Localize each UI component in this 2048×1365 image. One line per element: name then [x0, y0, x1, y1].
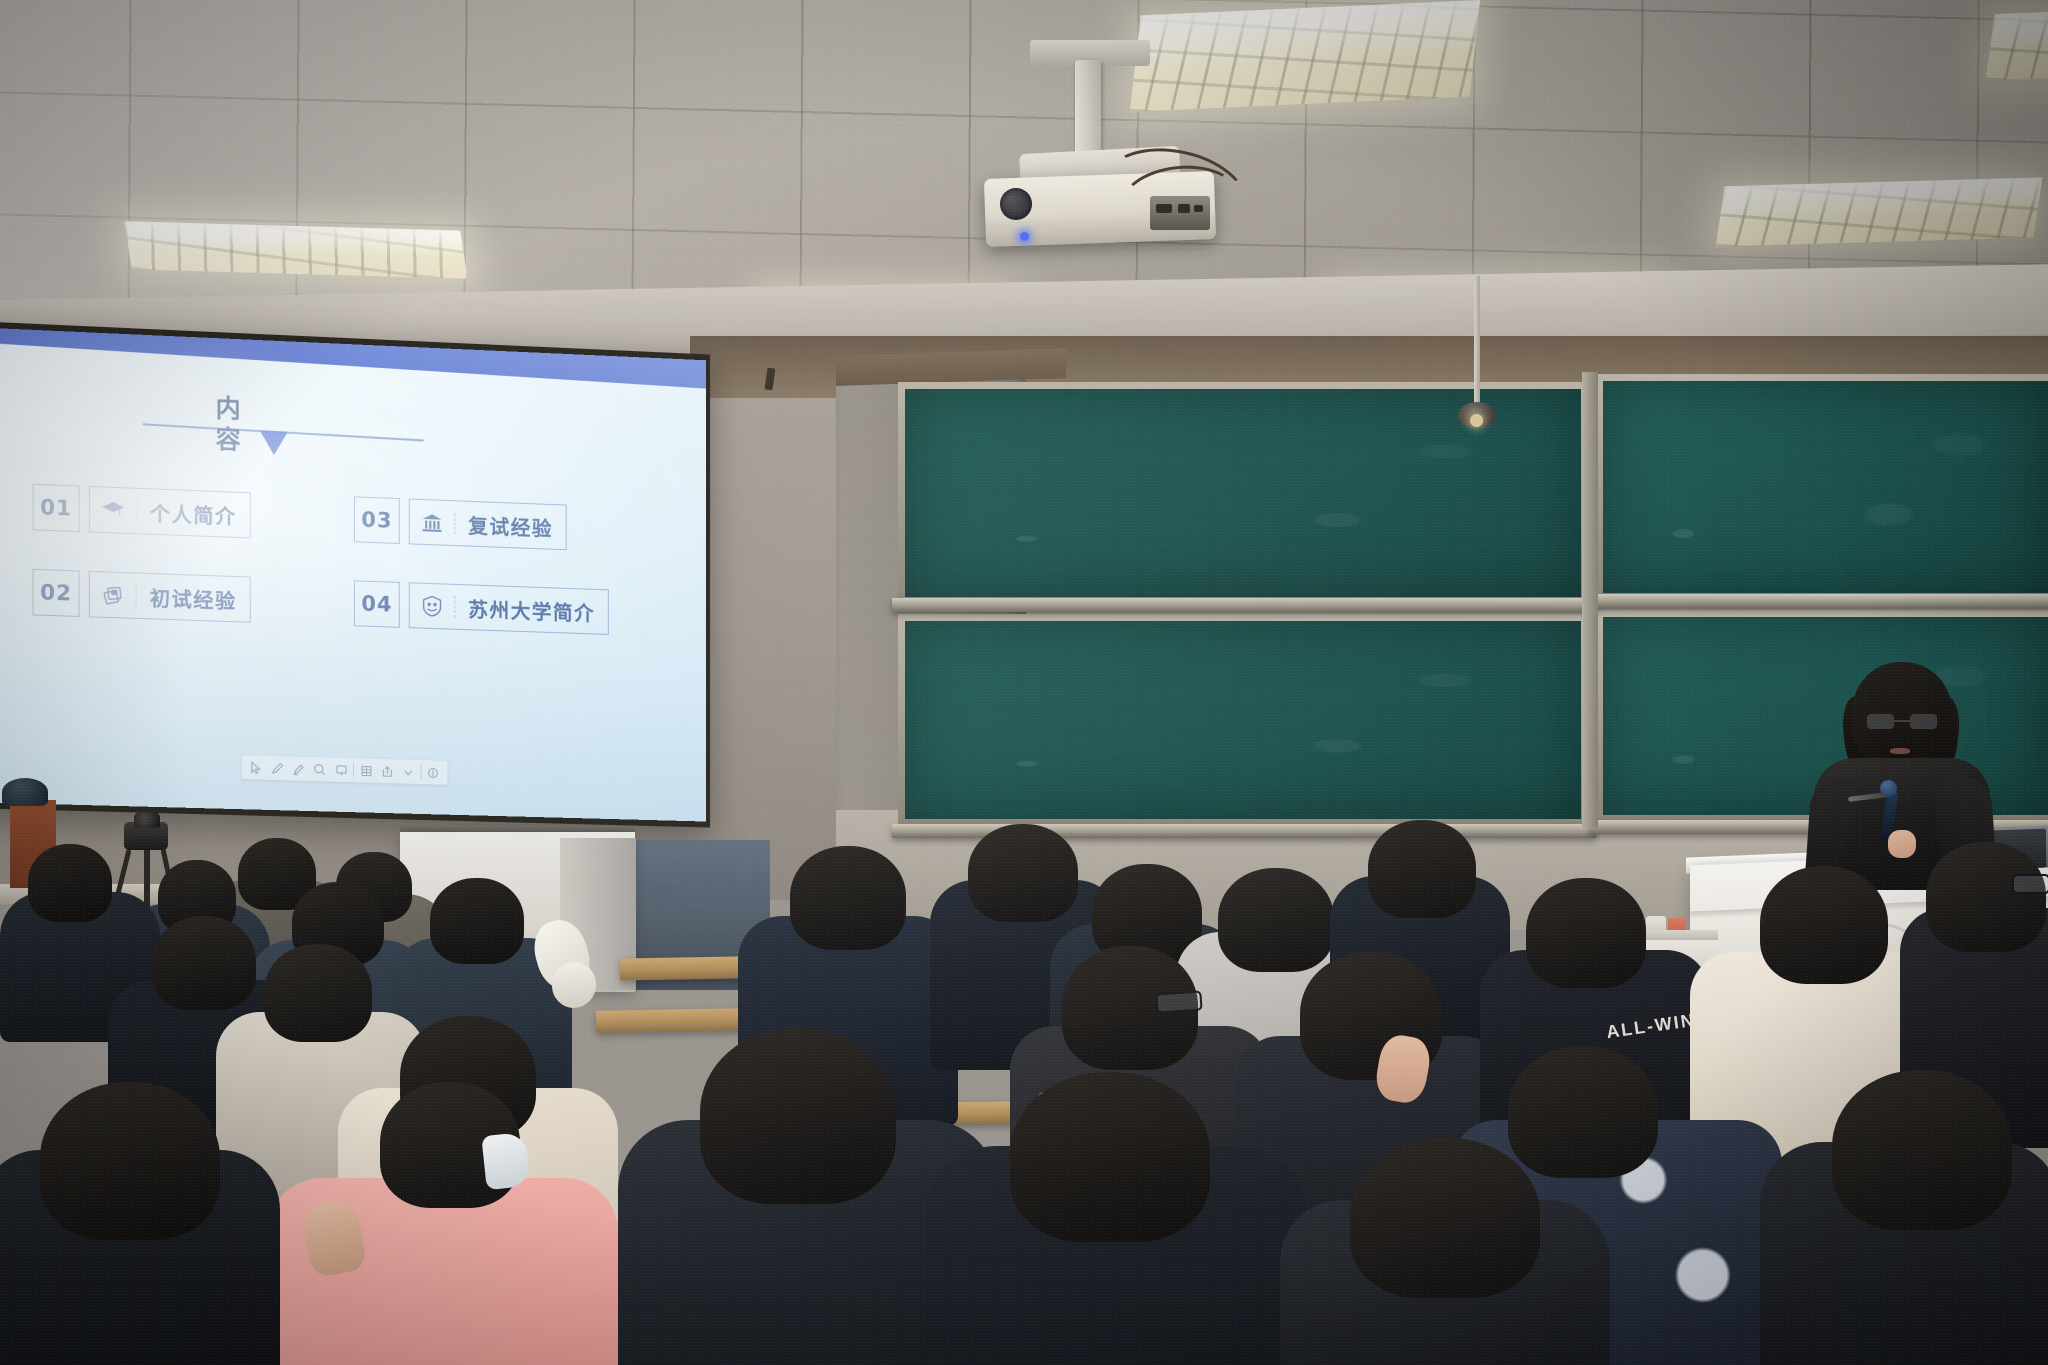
projection-screen[interactable]: 内容 01 个人简介	[0, 327, 706, 821]
glasses-icon	[1155, 990, 1202, 1013]
slide-title: 内容	[216, 392, 264, 456]
audience-head	[430, 878, 524, 964]
agenda-item-01[interactable]: 01 个人简介	[33, 484, 251, 539]
agenda-card[interactable]: 个人简介	[89, 486, 251, 539]
audience-head-foreground	[1832, 1070, 2012, 1230]
agenda-card[interactable]: 复试经验	[409, 498, 567, 550]
cursor-icon[interactable]	[247, 758, 265, 777]
projector-lens-icon	[1000, 188, 1032, 220]
audience-head	[1760, 866, 1888, 984]
audience-head	[1368, 820, 1476, 918]
blackboard-right-upper	[1596, 374, 2048, 600]
board-divider-frame	[1582, 372, 1598, 828]
dome-camera-icon	[2, 778, 48, 806]
agenda-number: 02	[33, 569, 80, 617]
agenda-number: 03	[354, 496, 400, 544]
toolbar-divider	[353, 763, 354, 777]
audience-head	[1508, 1046, 1658, 1178]
slide-title-block: 内容	[203, 390, 502, 492]
bank-building-icon	[410, 511, 456, 534]
chalk-rail-right	[1590, 594, 2048, 608]
audience-head	[152, 916, 256, 1010]
audience-head	[264, 944, 372, 1042]
presenter-mouth	[1890, 748, 1910, 754]
slide-grid-icon[interactable]	[357, 761, 375, 779]
highlighter-icon[interactable]	[289, 759, 307, 778]
graduation-cap-icon	[90, 499, 137, 521]
agenda-number: 01	[33, 484, 80, 532]
agenda-label: 个人简介	[137, 496, 250, 530]
audience-head-foreground	[1350, 1138, 1540, 1298]
audience-area: ALL-WIN	[0, 820, 2048, 1365]
audience-head	[28, 844, 112, 922]
agenda-number: 04	[354, 580, 400, 628]
chalk-rail-left	[892, 598, 1596, 612]
audience-head	[790, 846, 906, 950]
agenda-item-03[interactable]: 03	[354, 496, 567, 550]
toolbar-divider	[420, 765, 421, 779]
audience-head	[1526, 878, 1646, 988]
agenda-card[interactable]: 初试经验	[89, 571, 251, 623]
pen-icon[interactable]	[268, 759, 286, 778]
audience-head-foreground	[40, 1082, 220, 1240]
agenda-label: 苏州大学简介	[455, 592, 607, 626]
blackboard-left-lower	[898, 614, 1588, 826]
powerpoint-slide[interactable]: 内容 01 个人简介	[0, 327, 706, 821]
agenda-label: 初试经验	[137, 581, 250, 614]
zoom-icon[interactable]	[311, 760, 329, 779]
triangle-down-icon	[260, 430, 288, 455]
books-icon	[90, 583, 137, 607]
powerpoint-presenter-toolbar[interactable]	[242, 755, 448, 785]
glasses-icon	[2012, 874, 2048, 894]
more-options-icon[interactable]	[424, 763, 442, 781]
laser-pointer-icon[interactable]	[332, 761, 350, 780]
projector-power-led	[1020, 232, 1029, 241]
glasses-icon	[1866, 714, 1938, 729]
lecture-hall-photo: 内容 01 个人简介	[0, 0, 2048, 1365]
audience-head-foreground	[700, 1028, 896, 1204]
university-emblem-icon	[410, 594, 456, 618]
pendant-light-bulb-icon	[1470, 414, 1483, 427]
audience-head-foreground	[1010, 1072, 1210, 1242]
agenda-item-04[interactable]: 04 苏州大学简介	[354, 580, 609, 635]
agenda-item-02[interactable]: 02 初试经验	[33, 569, 251, 623]
audience-head	[968, 824, 1078, 922]
agenda-grid: 01 个人简介 02	[33, 484, 644, 666]
chevron-down-icon[interactable]	[399, 763, 417, 781]
audience-head	[1218, 868, 1334, 972]
agenda-card[interactable]: 苏州大学简介	[409, 582, 609, 635]
pendant-light-rod	[1474, 276, 1480, 406]
audience-head	[1926, 842, 2046, 952]
agenda-label: 复试经验	[455, 509, 565, 542]
share-screen-icon[interactable]	[378, 762, 396, 780]
